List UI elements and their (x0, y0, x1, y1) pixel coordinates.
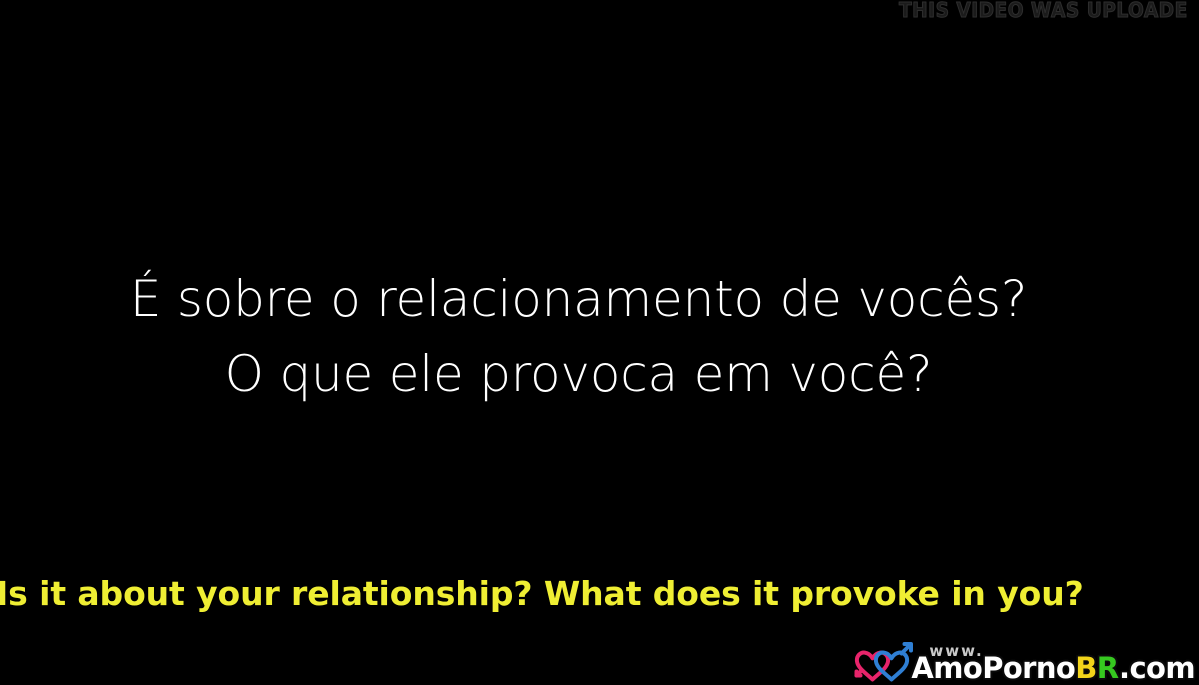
watermark-www-label: www. (929, 644, 983, 659)
main-subtitle-line-2: O que ele provoca em você? (0, 337, 1199, 412)
watermark-domain-r: R (1097, 651, 1119, 685)
watermark-domain-tld: .com (1119, 651, 1195, 685)
watermark-text: www. AmoPornoBR.com (911, 644, 1195, 683)
translated-subtitle: Is it about your relationship? What does… (0, 572, 1195, 616)
site-watermark: www. AmoPornoBR.com (853, 633, 1195, 685)
watermark-domain-name: AmoPorno (911, 651, 1075, 685)
main-subtitle: É sobre o relacionamento de vocês? O que… (0, 262, 1199, 412)
watermark-domain-b: B (1075, 651, 1097, 685)
watermark-domain: AmoPornoBR.com (911, 654, 1195, 683)
interlocking-hearts-icon (853, 640, 915, 684)
video-frame: THIS VIDEO WAS UPLOADE É sobre o relacio… (0, 0, 1199, 685)
main-subtitle-line-1: É sobre o relacionamento de vocês? (0, 262, 1199, 337)
upload-notice-banner: THIS VIDEO WAS UPLOADE (899, 0, 1188, 22)
